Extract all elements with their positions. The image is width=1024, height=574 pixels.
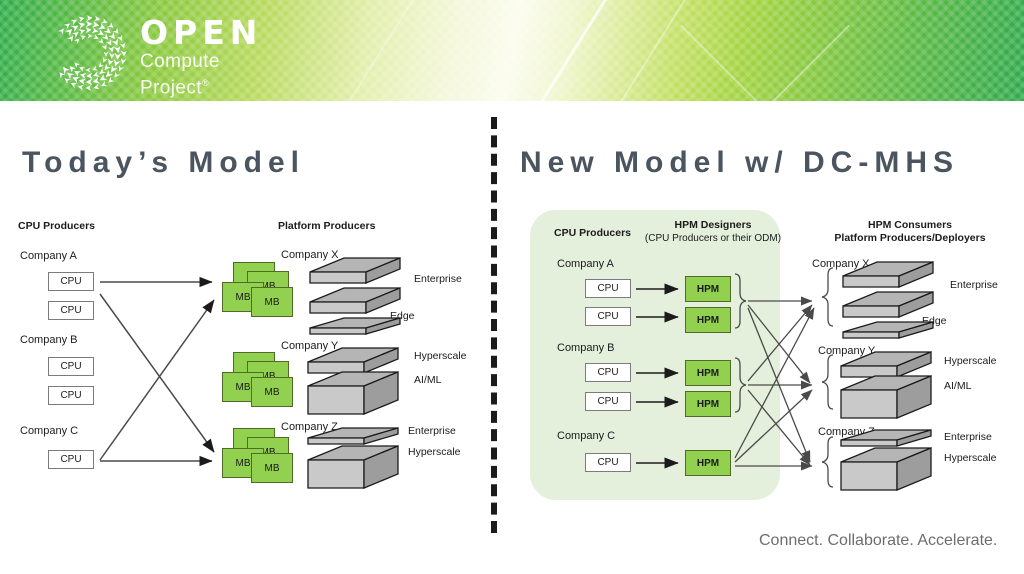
logo-project-text: Project® [140,73,262,98]
left-tag-y-1: Hyperscale [414,350,467,362]
right-hpm-designers-subheading: (CPU Producers or their ODM) [638,232,788,245]
right-hpm-a2: HPM [685,307,731,333]
left-tag-z-1: Enterprise [408,425,456,437]
right-company-x-label: Company X [812,258,869,270]
right-cpu-c1: CPU [585,453,631,472]
ocp-logo: OPEN Compute Project® [44,8,274,96]
right-panel-title: New Model w/ DC-MHS [520,146,959,180]
left-mb-cluster-y: MB MB MB [218,352,298,418]
left-slab-group-y [308,348,398,414]
left-cpu-c1: CPU [48,450,94,469]
right-company-z-label: Company Z [818,426,875,438]
right-hpm-consumers-subheading: Platform Producers/Deployers [820,232,1000,245]
left-tag-x-1: Enterprise [414,273,462,285]
hpm-designers-region [530,210,780,500]
left-company-a-label: Company A [20,250,77,262]
right-cpu-a2: CPU [585,307,631,326]
left-cpu-producers-heading: CPU Producers [18,220,95,233]
left-company-x-label: Company X [281,249,338,261]
right-tag-x-1: Enterprise [950,279,998,291]
panel-divider [491,117,497,533]
right-company-b-label: Company B [557,342,614,354]
right-cpu-a1: CPU [585,279,631,298]
left-cpu-b2: CPU [48,386,94,405]
left-platform-producers-heading: Platform Producers [278,220,375,233]
right-hpm-designers-heading: HPM Designers [648,219,778,232]
right-tag-z-1: Enterprise [944,431,992,443]
right-hpm-b1: HPM [685,360,731,386]
right-company-a-label: Company A [557,258,614,270]
left-tag-y-2: AI/ML [414,374,441,386]
logo-compute-text: Compute [140,51,262,72]
right-hpm-c1: HPM [685,450,731,476]
left-cpu-a1: CPU [48,272,94,291]
left-panel-title: Today’s Model [22,146,305,180]
ocp-wordmark: OPEN Compute Project® [140,16,262,98]
right-cpu-b2: CPU [585,392,631,411]
left-mb-y-4: MB [251,377,293,407]
left-mb-z-4: MB [251,453,293,483]
ocp-dotted-ring-icon [48,12,130,94]
right-tag-y-2: AI/ML [944,380,971,392]
left-tag-z-2: Hyperscale [408,446,461,458]
left-company-b-label: Company B [20,334,77,346]
tagline: Connect. Collaborate. Accelerate. [759,532,997,550]
right-company-c-label: Company C [557,430,615,442]
left-cpu-b1: CPU [48,357,94,376]
right-tag-y-1: Hyperscale [944,355,997,367]
left-arrow-group [100,282,214,461]
left-slab-group-x [310,258,400,334]
right-slab-group-z [841,430,931,490]
right-tag-z-2: Hyperscale [944,452,997,464]
right-slab-group-y [841,352,931,418]
left-cpu-a2: CPU [48,301,94,320]
left-mb-x-4: MB [251,287,293,317]
right-consumer-brace-group [822,268,833,487]
left-company-c-label: Company C [20,425,78,437]
left-tag-x-2: Edge [390,310,415,322]
right-hpm-consumers-heading: HPM Consumers [830,219,990,232]
right-company-y-label: Company Y [818,345,875,357]
left-mb-cluster-x: MB MB MB [218,262,298,328]
left-slab-group-z [308,428,398,488]
page-header: OPEN Compute Project® [0,0,1024,101]
right-tag-x-2: Edge [922,315,947,327]
right-hpm-a1: HPM [685,276,731,302]
right-slab-group-x [843,262,933,338]
left-mb-cluster-z: MB MB MB MB [218,428,298,494]
right-hpm-b2: HPM [685,391,731,417]
logo-open-text: OPEN [140,16,262,50]
right-cpu-producers-heading: CPU Producers [554,227,631,240]
right-cpu-b1: CPU [585,363,631,382]
left-company-y-label: Company Y [281,340,338,352]
